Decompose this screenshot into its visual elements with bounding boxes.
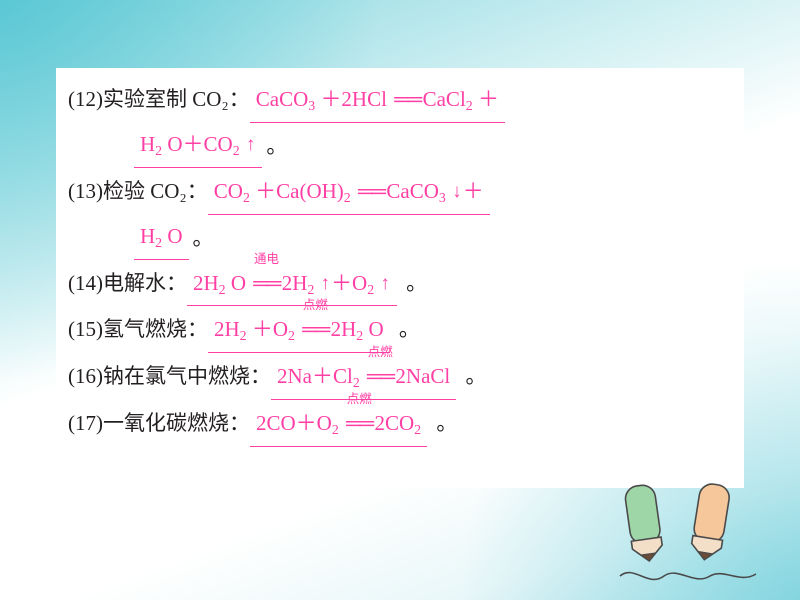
answer-wrap-14: 2H2 O 通电══2H2 ↑＋O2 ↑ 。 bbox=[187, 266, 732, 307]
period-15: 。 bbox=[395, 317, 420, 341]
list-item: (15)氢气燃烧： 2H2 ＋O2 点燃══2H2 O 。 bbox=[68, 312, 732, 353]
content-card: (12)实验室制 CO₂： CaCO3 ＋2HCl ══CaCl2 ＋ H2 O… bbox=[56, 68, 744, 488]
pencils-icon bbox=[614, 480, 764, 590]
slide: (12)实验室制 CO₂： CaCO3 ＋2HCl ══CaCl2 ＋ H2 O… bbox=[0, 0, 800, 600]
answer-row-13-line2: H2 O 。 bbox=[134, 221, 732, 260]
precipitate-arrow-down-icon: ↓ bbox=[451, 182, 463, 201]
period-16: 。 bbox=[462, 364, 487, 388]
exercise-list: (12)实验室制 CO₂： CaCO3 ＋2HCl ══CaCl2 ＋ H2 O… bbox=[68, 82, 732, 453]
answer-blank-12-line1: CaCO3 ＋2HCl ══CaCl2 ＋ bbox=[250, 84, 505, 123]
equals-sign-with-condition: 点燃══ bbox=[344, 408, 374, 438]
answer-blank-12-line2: H2 O＋CO2 ↑ bbox=[134, 129, 262, 168]
answer-wrap-15: 2H2 ＋O2 点燃══2H2 O 。 bbox=[208, 312, 732, 353]
list-item: (14)电解水： 2H2 O 通电══2H2 ↑＋O2 ↑ 。 bbox=[68, 266, 732, 307]
list-item: (12)实验室制 CO₂： CaCO3 ＋2HCl ══CaCl2 ＋ bbox=[68, 82, 732, 123]
reaction-condition-14: 通电 bbox=[254, 253, 279, 266]
item-label-14: (14)电解水： bbox=[68, 266, 187, 300]
pencils-decoration bbox=[614, 480, 764, 590]
item-label-12: (12)实验室制 CO₂： bbox=[68, 82, 250, 116]
equals-sign: ══ bbox=[356, 176, 386, 206]
list-item: (17)一氧化碳燃烧： 2CO＋O2 点燃══2CO2 。 bbox=[68, 406, 732, 447]
item-label-15: (15)氢气燃烧： bbox=[68, 312, 208, 346]
reaction-condition-15: 点燃 bbox=[303, 299, 328, 312]
gas-arrow-up-icon: ↑ bbox=[379, 274, 391, 293]
item-label-16: (16)钠在氯气中燃烧： bbox=[68, 359, 271, 393]
answer-blank-15: 2H2 ＋O2 点燃══2H2 O bbox=[208, 314, 390, 353]
equals-sign-with-condition: 点燃══ bbox=[365, 361, 395, 391]
answer-blank-13-line2: H2 O bbox=[134, 221, 189, 260]
answer-wrap-17: 2CO＋O2 点燃══2CO2 。 bbox=[250, 406, 732, 447]
period-14: 。 bbox=[402, 271, 427, 295]
gas-arrow-up-icon: ↑ bbox=[320, 274, 332, 293]
answer-blank-17: 2CO＋O2 点燃══2CO2 bbox=[250, 408, 427, 447]
equals-sign-with-condition: 点燃══ bbox=[300, 314, 330, 344]
gas-arrow-up-icon: ↑ bbox=[245, 135, 257, 154]
answer-wrap-16: 2Na＋Cl2 点燃══2NaCl 。 bbox=[271, 359, 732, 400]
equals-sign: ══ bbox=[392, 84, 422, 114]
answer-wrap-13: CO2 ＋Ca(OH)2 ══CaCO3 ↓＋ bbox=[208, 174, 732, 215]
answer-blank-14: 2H2 O 通电══2H2 ↑＋O2 ↑ bbox=[187, 268, 397, 307]
answer-blank-13-line1: CO2 ＋Ca(OH)2 ══CaCO3 ↓＋ bbox=[208, 176, 490, 215]
list-item: (16)钠在氯气中燃烧： 2Na＋Cl2 点燃══2NaCl 。 bbox=[68, 359, 732, 400]
reaction-condition-17: 点燃 bbox=[347, 393, 372, 406]
equals-sign-with-condition: 通电══ bbox=[251, 268, 281, 298]
reaction-condition-16: 点燃 bbox=[368, 346, 393, 359]
period-17: 。 bbox=[432, 411, 457, 435]
answer-row-12-line2: H2 O＋CO2 ↑ 。 bbox=[134, 129, 732, 168]
answer-wrap-12: CaCO3 ＋2HCl ══CaCl2 ＋ bbox=[250, 82, 732, 123]
period-12: 。 bbox=[262, 129, 287, 163]
item-label-13: (13)检验 CO₂： bbox=[68, 174, 208, 208]
period-13: 。 bbox=[189, 221, 214, 255]
list-item: (13)检验 CO₂： CO2 ＋Ca(OH)2 ══CaCO3 ↓＋ bbox=[68, 174, 732, 215]
item-label-17: (17)一氧化碳燃烧： bbox=[68, 406, 250, 440]
